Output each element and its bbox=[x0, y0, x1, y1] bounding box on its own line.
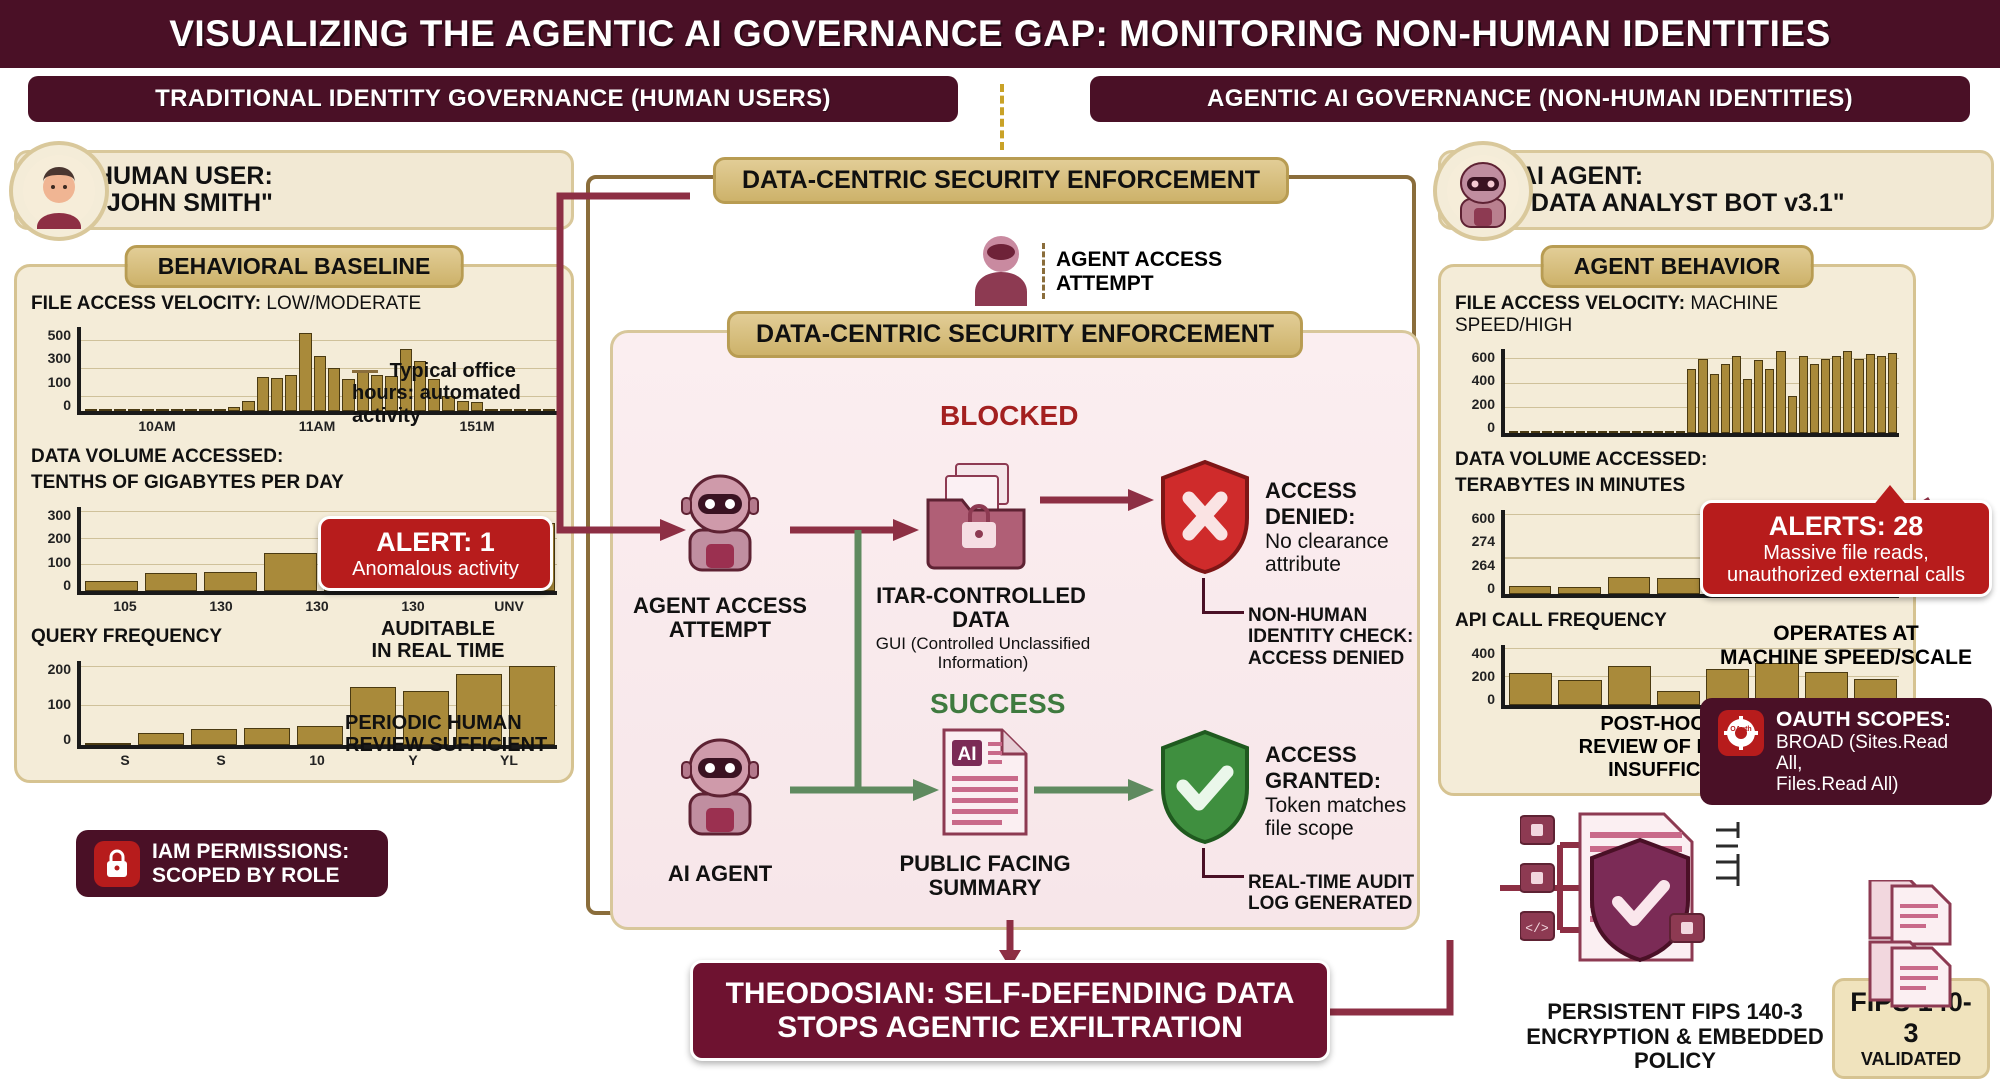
chart-bar bbox=[1554, 431, 1563, 433]
band-agentic-governance: AGENTIC AI GOVERNANCE (NON-HUMAN IDENTIT… bbox=[1090, 76, 1970, 122]
chart-bar bbox=[1558, 587, 1600, 594]
chart-bar bbox=[257, 377, 269, 411]
chart-bar bbox=[264, 553, 317, 591]
left-query-yaxis: 2001000 bbox=[31, 661, 71, 749]
svg-text:</>: </> bbox=[1525, 921, 1549, 936]
chart-bar bbox=[1609, 431, 1618, 433]
left-column: HUMAN USER: "JOHN SMITH" BEHAVIORAL BASE… bbox=[14, 150, 574, 783]
chart-bar bbox=[543, 409, 555, 411]
chart-bar bbox=[1608, 577, 1650, 594]
theodosian-banner: THEODOSIAN: SELF-DEFENDING DATA STOPS AG… bbox=[690, 960, 1330, 1061]
y-tick-label: 600 bbox=[1455, 510, 1495, 526]
left-volume-yaxis: 3002001000 bbox=[31, 507, 71, 595]
chart-bar bbox=[1821, 359, 1830, 433]
right-velocity-plot bbox=[1501, 349, 1899, 437]
left-alert-count: ALERT: 1 bbox=[335, 527, 536, 558]
x-tick-label: 130 bbox=[173, 598, 269, 614]
y-tick-label: 0 bbox=[31, 577, 71, 593]
chart-bar bbox=[314, 356, 326, 411]
right-volume-sublabel: TERABYTES IN MINUTES bbox=[1455, 475, 1899, 497]
access-denied-result: ACCESS DENIED: No clearance attribute bbox=[1265, 478, 1445, 576]
success-robot-icon bbox=[672, 732, 768, 842]
chart-bar bbox=[228, 407, 240, 411]
blocked-actor-label: AGENT ACCESS ATTEMPT bbox=[620, 594, 820, 642]
y-tick-label: 100 bbox=[31, 696, 71, 712]
chart-bar bbox=[1657, 691, 1700, 705]
chart-bar bbox=[1866, 354, 1875, 433]
y-tick-label: 274 bbox=[1455, 533, 1495, 549]
x-tick-label: 10AM bbox=[77, 418, 237, 434]
y-tick-label: 0 bbox=[1455, 691, 1495, 707]
right-api-yaxis: 4002000 bbox=[1455, 645, 1495, 709]
chart-bar bbox=[285, 375, 297, 411]
blocked-label: BLOCKED bbox=[940, 400, 1078, 432]
chart-bar bbox=[99, 409, 111, 411]
fips-encryption-graphic: </> bbox=[1520, 810, 1820, 970]
chart-bar bbox=[171, 409, 183, 411]
chart-bar bbox=[328, 368, 340, 411]
chart-bar bbox=[138, 733, 184, 746]
access-granted-result: ACCESS GRANTED: Token matches file scope bbox=[1265, 742, 1445, 840]
note-dash-typical bbox=[352, 370, 378, 373]
center-outer-title: DATA-CENTRIC SECURITY ENFORCEMENT bbox=[713, 157, 1289, 204]
blocked-robot-icon bbox=[672, 468, 768, 578]
chart-bar bbox=[1799, 356, 1808, 433]
chart-bar bbox=[1888, 353, 1897, 433]
x-tick-label: 130 bbox=[365, 598, 461, 614]
note-auditable-real-time: AUDITABLE IN REAL TIME bbox=[358, 618, 518, 663]
center-inner-title: DATA-CENTRIC SECURITY ENFORCEMENT bbox=[727, 311, 1303, 358]
ai-agent-card: AI AGENT: "DATA ANALYST BOT v3.1" bbox=[1438, 150, 1994, 230]
ai-robot-avatar-icon bbox=[1433, 141, 1533, 241]
x-tick-label: UNV bbox=[461, 598, 557, 614]
success-label: SUCCESS bbox=[930, 688, 1065, 720]
behavioral-baseline-title: BEHAVIORAL BASELINE bbox=[125, 245, 464, 288]
chart-bar bbox=[1643, 431, 1652, 433]
access-denied-body: No clearance attribute bbox=[1265, 530, 1445, 576]
oauth-scopes-text: OAUTH SCOPES: BROAD (Sites.Read All, Fil… bbox=[1776, 708, 1974, 795]
y-tick-label: 0 bbox=[31, 397, 71, 413]
chart-bar bbox=[1810, 364, 1819, 433]
chart-bar bbox=[1509, 431, 1518, 433]
alert-spike-marker bbox=[1872, 485, 1908, 507]
chart-bar bbox=[1542, 431, 1551, 433]
chart-bar bbox=[85, 581, 138, 592]
human-user-avatar-icon bbox=[9, 141, 109, 241]
chart-bar bbox=[1710, 374, 1719, 433]
y-tick-label: 0 bbox=[31, 731, 71, 747]
chart-bar bbox=[85, 743, 131, 745]
lock-icon bbox=[94, 841, 140, 887]
chart-bar bbox=[1520, 431, 1529, 433]
human-user-card: HUMAN USER: "JOHN SMITH" bbox=[14, 150, 574, 230]
left-alert-text: Anomalous activity bbox=[335, 558, 536, 580]
y-tick-label: 200 bbox=[1455, 668, 1495, 684]
chart-bar bbox=[1565, 431, 1574, 433]
access-granted-body: Token matches file scope bbox=[1265, 794, 1445, 840]
y-tick-label: 100 bbox=[31, 374, 71, 390]
left-volume-sublabel: TENTHS OF GIGABYTES PER DAY bbox=[31, 472, 557, 494]
chart-bar bbox=[142, 409, 154, 411]
vertical-divider bbox=[1000, 84, 1004, 150]
chart-bar bbox=[1788, 396, 1797, 433]
y-tick-label: 300 bbox=[31, 507, 71, 523]
chart-bar bbox=[297, 726, 343, 745]
chart-bar bbox=[185, 409, 197, 411]
agent-access-attempt-top-label: AGENT ACCESS ATTEMPT bbox=[1056, 248, 1222, 295]
chart-bar bbox=[114, 409, 126, 411]
chart-bar bbox=[1558, 680, 1601, 705]
iam-permissions-chip: IAM PERMISSIONS: SCOPED BY ROLE bbox=[76, 830, 388, 897]
left-velocity-yaxis: 5003001000 bbox=[31, 327, 71, 415]
chart-bar bbox=[1687, 369, 1696, 433]
left-volume-label: DATA VOLUME ACCESSED: bbox=[31, 446, 557, 468]
chart-bar bbox=[1654, 431, 1663, 433]
access-denied-title: ACCESS DENIED: bbox=[1265, 478, 1445, 530]
x-tick-label: 105 bbox=[77, 598, 173, 614]
chart-bar bbox=[1776, 351, 1785, 433]
y-tick-label: 300 bbox=[31, 350, 71, 366]
chart-bar bbox=[156, 409, 168, 411]
chart-bar bbox=[1877, 356, 1886, 433]
right-velocity-yaxis: 6004002000 bbox=[1455, 349, 1495, 437]
x-tick-label: 130 bbox=[269, 598, 365, 614]
svg-text:AI: AI bbox=[958, 744, 977, 765]
chart-bar bbox=[204, 572, 257, 591]
y-tick-label: 500 bbox=[31, 327, 71, 343]
fips-caption: PERSISTENT FIPS 140-3 ENCRYPTION & EMBED… bbox=[1510, 1000, 1840, 1074]
chart-bar bbox=[1676, 431, 1685, 433]
y-tick-label: 400 bbox=[1455, 372, 1495, 388]
y-tick-label: 264 bbox=[1455, 557, 1495, 573]
chart-bar bbox=[1509, 673, 1552, 705]
right-volume-label: DATA VOLUME ACCESSED: bbox=[1455, 449, 1899, 471]
right-alert-text: Massive file reads, unauthorized externa… bbox=[1717, 542, 1975, 586]
y-tick-label: 200 bbox=[31, 661, 71, 677]
locked-folder-icon bbox=[918, 460, 1036, 572]
y-tick-label: 0 bbox=[1455, 419, 1495, 435]
left-alert-badge: ALERT: 1 Anomalous activity bbox=[318, 516, 553, 591]
chart-bar bbox=[1632, 431, 1641, 433]
chart-bar bbox=[1754, 360, 1763, 433]
gear-oauth-icon: OAuth bbox=[1718, 710, 1764, 756]
chart-bar bbox=[128, 409, 140, 411]
itar-data-sublabel: GUI (Controlled Unclassified Information… bbox=[858, 634, 1108, 672]
access-granted-title: ACCESS GRANTED: bbox=[1265, 742, 1445, 794]
y-tick-label: 100 bbox=[31, 554, 71, 570]
chart-bar bbox=[299, 333, 311, 411]
chart-bar bbox=[214, 409, 226, 411]
right-velocity-bars bbox=[1509, 349, 1897, 433]
right-alert-count: ALERTS: 28 bbox=[1717, 511, 1975, 542]
itar-data-label: ITAR-CONTROLLED DATA bbox=[866, 584, 1096, 632]
denied-elbow-connector bbox=[1202, 578, 1244, 614]
right-velocity-label: FILE ACCESS VELOCITY: MACHINE SPEED/HIGH bbox=[1455, 293, 1899, 337]
chart-bar bbox=[1657, 578, 1699, 594]
chart-bar bbox=[1843, 351, 1852, 433]
chart-bar bbox=[242, 401, 254, 411]
left-volume-xaxis: 105130130130UNV bbox=[77, 598, 557, 614]
y-tick-label: 200 bbox=[1455, 396, 1495, 412]
chart-bar bbox=[1732, 356, 1741, 433]
left-velocity-label: FILE ACCESS VELOCITY: LOW/MODERATE bbox=[31, 293, 557, 315]
top-node-connector bbox=[1042, 243, 1045, 299]
operates-machine-speed-note: OPERATES AT MACHINE SPEED/SCALE bbox=[1700, 622, 1992, 670]
band-traditional-governance: TRADITIONAL IDENTITY GOVERNANCE (HUMAN U… bbox=[28, 76, 958, 122]
chart-bar bbox=[1608, 666, 1651, 705]
chart-bar bbox=[1832, 356, 1841, 433]
y-tick-label: 200 bbox=[31, 530, 71, 546]
y-tick-label: 600 bbox=[1455, 349, 1495, 365]
right-volume-yaxis: 6002742640 bbox=[1455, 510, 1495, 598]
chart-bar bbox=[1620, 431, 1629, 433]
right-velocity-chart: 6004002000 bbox=[1455, 341, 1899, 437]
chart-bar bbox=[244, 728, 290, 745]
public-summary-label: PUBLIC FACING SUMMARY bbox=[880, 852, 1090, 900]
note-typical-office-hours: Typical office hours: automated activity bbox=[352, 360, 542, 427]
chart-bar bbox=[1765, 369, 1774, 433]
agent-access-person-icon bbox=[965, 228, 1037, 310]
ai-agent-label: AI AGENT bbox=[660, 862, 780, 886]
chart-bar bbox=[1721, 364, 1730, 433]
exfiltration-doc-stack-icon bbox=[1860, 880, 1980, 1060]
non-human-identity-check-note: NON-HUMAN IDENTITY CHECK: ACCESS DENIED bbox=[1248, 605, 1413, 669]
chart-bar bbox=[1698, 359, 1707, 433]
agent-behavior-title: AGENT BEHAVIOR bbox=[1541, 245, 1814, 288]
granted-elbow-connector bbox=[1202, 848, 1244, 878]
green-check-shield-icon bbox=[1155, 728, 1255, 846]
chart-bar bbox=[191, 729, 237, 745]
ai-agent-name: AI AGENT: "DATA ANALYST BOT v3.1" bbox=[1519, 163, 1845, 217]
x-tick-label: S bbox=[77, 752, 173, 768]
red-x-shield-icon bbox=[1155, 458, 1255, 576]
ai-document-icon: AI bbox=[938, 726, 1030, 838]
real-time-audit-note: REAL-TIME AUDIT LOG GENERATED bbox=[1248, 872, 1414, 915]
x-tick-label: S bbox=[173, 752, 269, 768]
chart-bar bbox=[1509, 586, 1551, 594]
svg-text:OAuth: OAuth bbox=[1730, 726, 1751, 733]
note-periodic-review: PERIODIC HUMAN REVIEW SUFFICIENT bbox=[345, 712, 580, 757]
chart-bar bbox=[199, 409, 211, 411]
chart-bar bbox=[1576, 431, 1585, 433]
page-title: VISUALIZING THE AGENTIC AI GOVERNANCE GA… bbox=[169, 13, 1831, 55]
human-user-name: HUMAN USER: "JOHN SMITH" bbox=[95, 163, 273, 217]
chart-bar bbox=[1598, 431, 1607, 433]
chart-bar bbox=[271, 378, 283, 411]
chart-bar bbox=[1587, 431, 1596, 433]
chart-bar bbox=[1531, 431, 1540, 433]
chart-bar bbox=[1854, 359, 1863, 433]
chart-bar bbox=[145, 573, 198, 591]
page-title-bar: VISUALIZING THE AGENTIC AI GOVERNANCE GA… bbox=[0, 0, 2000, 68]
chart-bar bbox=[1665, 431, 1674, 433]
right-alert-badge: ALERTS: 28 Massive file reads, unauthori… bbox=[1700, 500, 1992, 597]
oauth-scopes-chip: OAuth OAUTH SCOPES: BROAD (Sites.Read Al… bbox=[1700, 698, 1992, 805]
iam-permissions-text: IAM PERMISSIONS: SCOPED BY ROLE bbox=[152, 840, 349, 887]
y-tick-label: 400 bbox=[1455, 645, 1495, 661]
y-tick-label: 0 bbox=[1455, 580, 1495, 596]
chart-bar bbox=[1743, 379, 1752, 433]
chart-bar bbox=[85, 409, 97, 411]
